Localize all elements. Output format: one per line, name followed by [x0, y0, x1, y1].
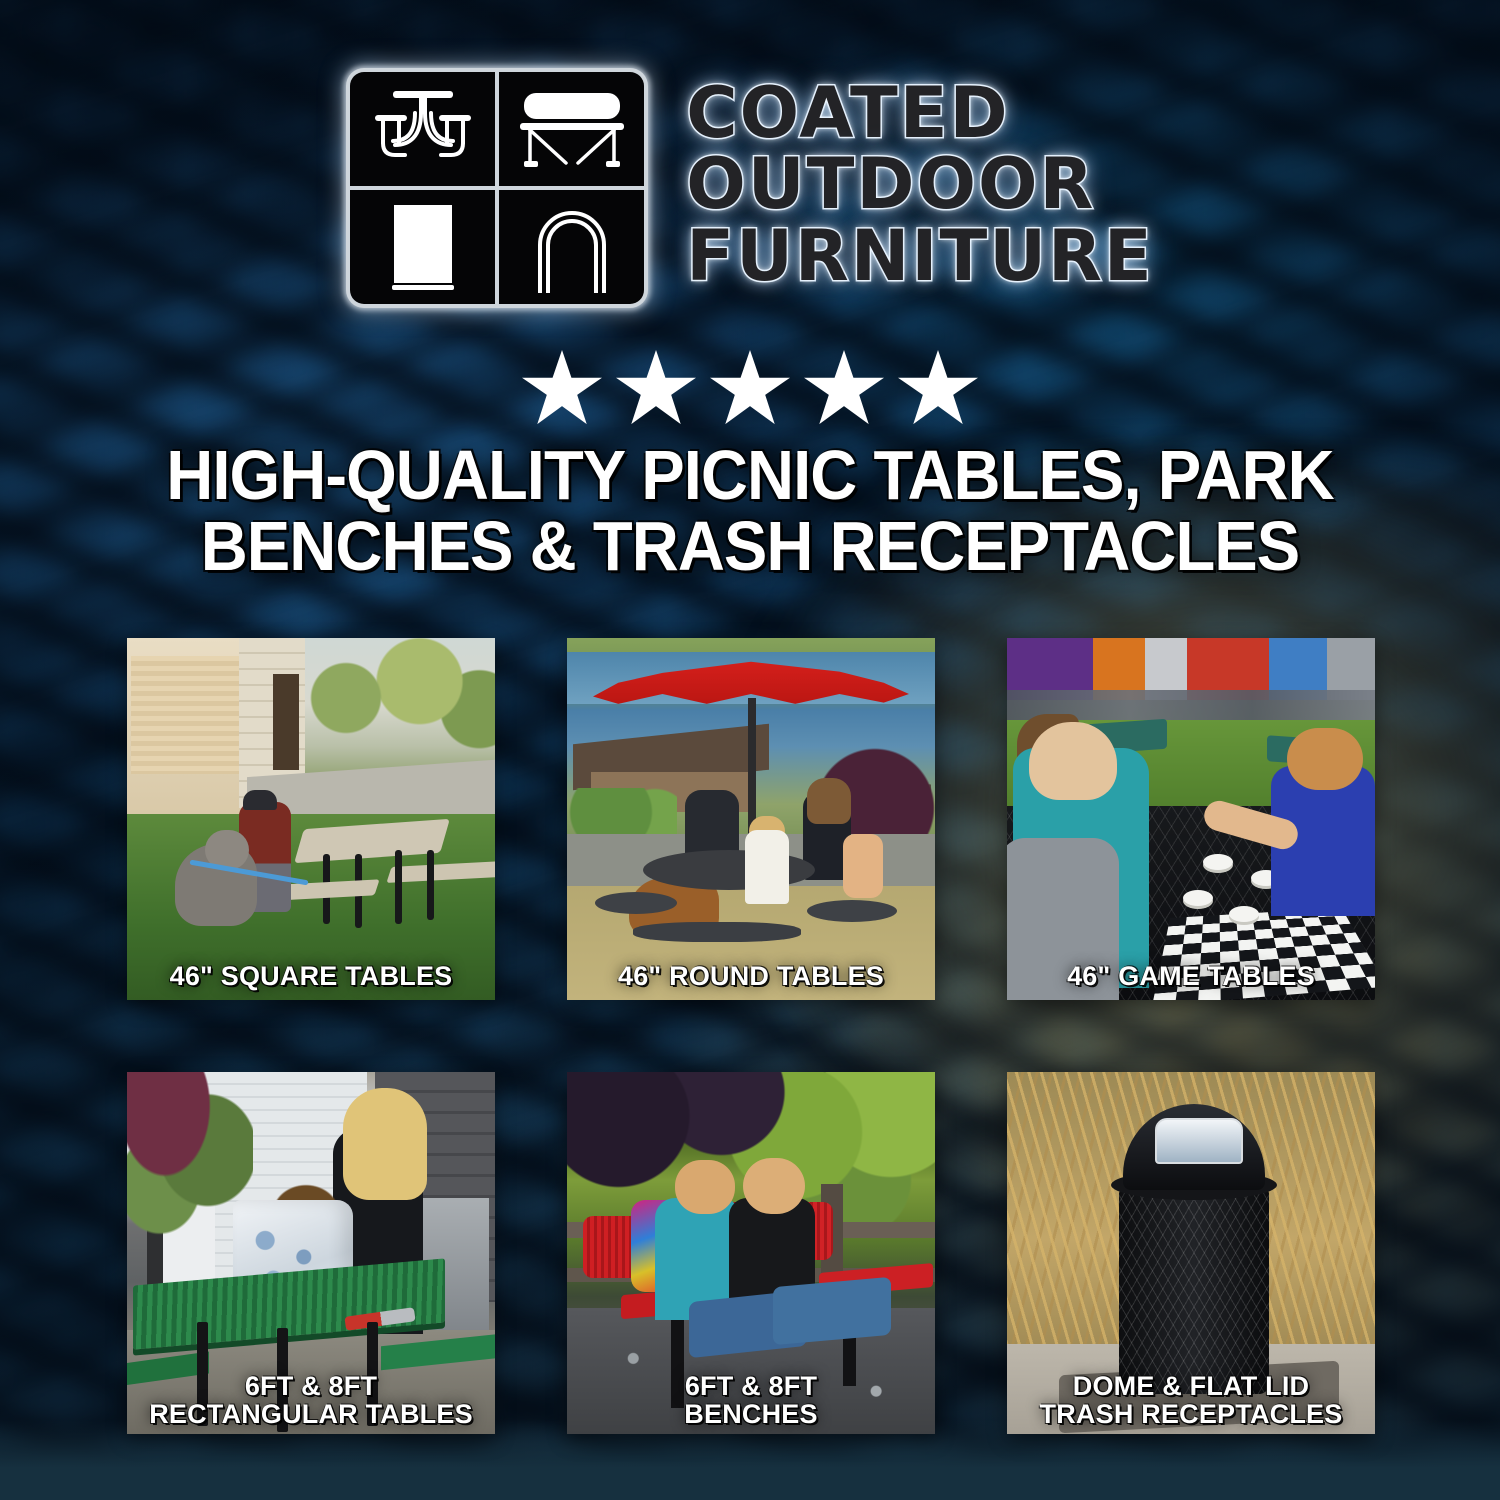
caption-line-2: TRASH RECEPTACLES [1013, 1400, 1369, 1428]
promo-banner: COATED OUTDOOR FURNITURE HIGH-QUALITY PI… [0, 0, 1500, 1500]
product-tile-rectangular-tables[interactable]: 6FT & 8FT RECTANGULAR TABLES [127, 1072, 495, 1434]
product-tile-round-tables[interactable]: 46" ROUND TABLES [567, 638, 935, 1000]
star-icon-4 [804, 350, 884, 428]
product-caption: 46" SQUARE TABLES [133, 962, 489, 990]
brand-logo: COATED OUTDOOR FURNITURE [0, 68, 1500, 308]
trash-receptacle-icon [350, 190, 495, 304]
headline-line-1: HIGH-QUALITY PICNIC TABLES, PARK [108, 440, 1391, 511]
bench-icon [499, 72, 644, 186]
product-photo-square-tables [127, 638, 495, 1000]
brand-word-1: COATED [686, 81, 1009, 152]
caption-line-1: 6FT & 8FT [245, 1371, 377, 1401]
logo-mark-grid [346, 68, 648, 308]
product-caption: DOME & FLAT LID TRASH RECEPTACLES [1013, 1372, 1369, 1428]
caption-line-1: 46" GAME TABLES [1067, 961, 1315, 991]
brand-word-3: FURNITURE [686, 224, 1154, 295]
caption-line-1: 46" ROUND TABLES [618, 961, 884, 991]
product-tile-benches[interactable]: 6FT & 8FT BENCHES [567, 1072, 935, 1434]
product-tile-square-tables[interactable]: 46" SQUARE TABLES [127, 638, 495, 1000]
product-grid: 46" SQUARE TABLES [127, 638, 1375, 1434]
brand-wordmark: COATED OUTDOOR FURNITURE [686, 81, 1154, 294]
caption-line-1: DOME & FLAT LID [1073, 1371, 1309, 1401]
product-tile-game-tables[interactable]: 46" GAME TABLES [1007, 638, 1375, 1000]
star-icon-2 [616, 350, 696, 428]
star-rating [0, 348, 1500, 430]
picnic-table-icon [350, 72, 495, 186]
star-icon-3 [710, 350, 790, 428]
arch-bench-icon [499, 190, 644, 304]
product-tile-trash-receptacles[interactable]: DOME & FLAT LID TRASH RECEPTACLES [1007, 1072, 1375, 1434]
product-caption: 6FT & 8FT BENCHES [573, 1372, 929, 1428]
product-photo-game-tables [1007, 638, 1375, 1000]
product-caption: 46" ROUND TABLES [573, 962, 929, 990]
product-caption: 6FT & 8FT RECTANGULAR TABLES [133, 1372, 489, 1428]
caption-line-1: 46" SQUARE TABLES [170, 961, 453, 991]
caption-line-2: RECTANGULAR TABLES [133, 1400, 489, 1428]
caption-line-2: BENCHES [573, 1400, 929, 1428]
headline-line-2: BENCHES & TRASH RECEPTACLES [108, 511, 1391, 582]
product-photo-round-tables [567, 638, 935, 1000]
star-icon-5 [898, 350, 978, 428]
product-caption: 46" GAME TABLES [1013, 962, 1369, 990]
headline: HIGH-QUALITY PICNIC TABLES, PARK BENCHES… [108, 440, 1391, 583]
brand-word-2: OUTDOOR [686, 152, 1095, 223]
caption-line-1: 6FT & 8FT [685, 1371, 817, 1401]
star-icon-1 [522, 350, 602, 428]
